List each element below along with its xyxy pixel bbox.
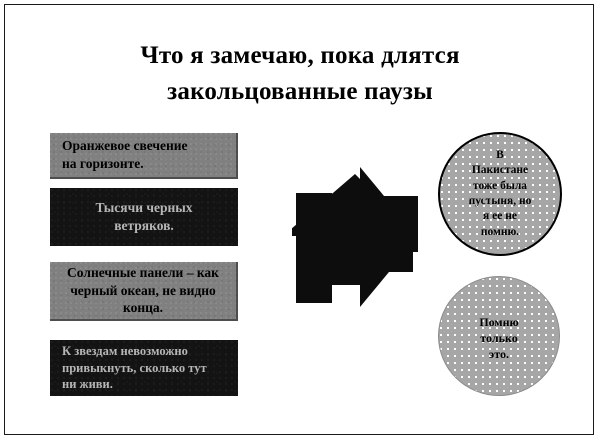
observation-box-1-line-1: Оранжевое свечение [62, 137, 228, 155]
observation-box-3-line-1: Солнечные панели – как [60, 264, 226, 282]
memory-circle-2: Помню только это. [438, 276, 560, 396]
memory-circle-2-line-2: только [452, 331, 546, 347]
observation-box-4: К звездам невозможно привыкнуть, сколько… [50, 340, 238, 396]
observation-box-4-line-3: ни живи. [62, 376, 230, 393]
slide-canvas: Что я замечаю, пока длятся закольцованны… [0, 0, 600, 443]
memory-circle-1-line-4: пустыня, но [453, 194, 547, 209]
memory-circle-2-line-1: Помню [452, 315, 546, 331]
observation-box-2: Тысячи черных ветряков. [50, 188, 238, 246]
observation-box-4-line-1: К звездам невозможно [62, 343, 230, 360]
memory-circle-1-line-2: Пакистане [453, 163, 547, 178]
memory-circle-2-line-3: это. [452, 347, 546, 363]
right-arrow-icon [292, 163, 418, 311]
observation-box-1: Оранжевое свечение на горизонте. [50, 133, 238, 179]
memory-circle-1-line-3: тоже была [453, 179, 547, 194]
observation-box-2-line-2: ветряков. [60, 217, 228, 235]
observation-box-2-line-1: Тысячи черных [60, 199, 228, 217]
memory-circle-1-line-5: я ее не [453, 209, 547, 224]
memory-circle-1-text: В Пакистане тоже была пустыня, но я ее н… [453, 148, 547, 240]
page-title-line-1: Что я замечаю, пока длятся [40, 38, 560, 74]
observation-box-3-line-2: черный океан, не видно [60, 282, 226, 300]
observation-box-4-line-2: привыкнуть, сколько тут [62, 360, 230, 377]
page-title: Что я замечаю, пока длятся закольцованны… [40, 38, 560, 109]
memory-circle-2-text: Помню только это. [452, 309, 546, 363]
observation-box-3: Солнечные панели – как черный океан, не … [50, 262, 238, 321]
memory-circle-1: В Пакистане тоже была пустыня, но я ее н… [438, 132, 562, 256]
page-title-line-2: закольцованные паузы [40, 74, 560, 110]
observation-box-3-line-3: конца. [60, 299, 226, 317]
observation-box-1-line-2: на горизонте. [62, 155, 228, 173]
memory-circle-1-line-6: помню. [453, 225, 547, 240]
memory-circle-1-line-1: В [453, 148, 547, 163]
